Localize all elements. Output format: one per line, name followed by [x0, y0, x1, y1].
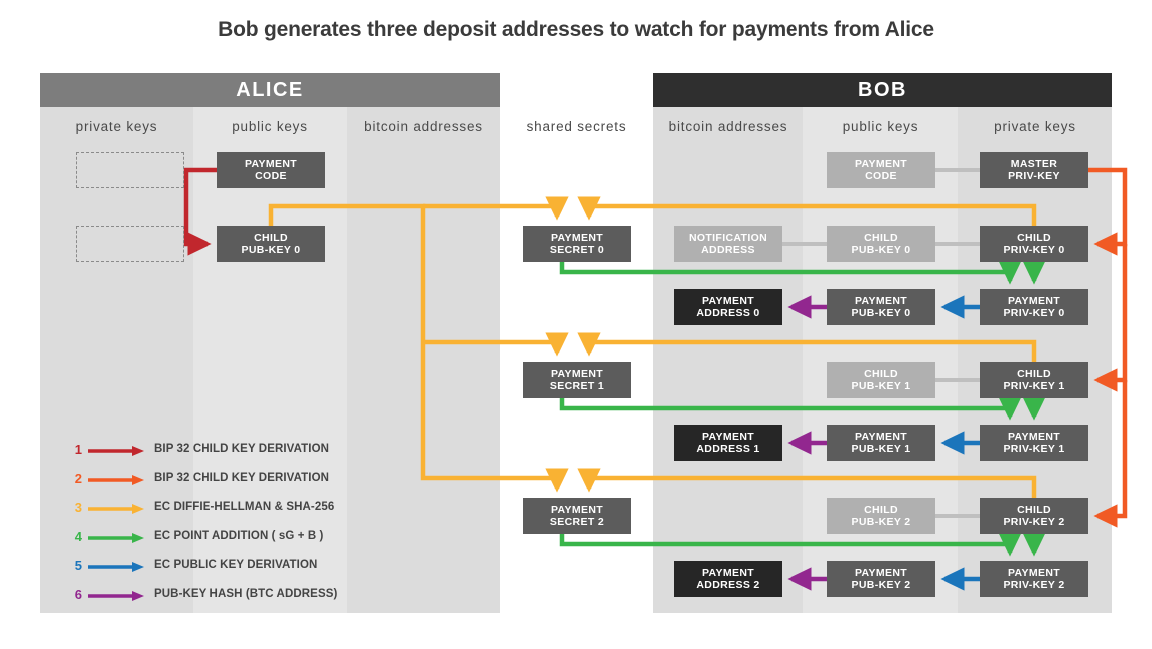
node-line-1: MASTER — [1011, 158, 1057, 171]
node-line-1: PAYMENT — [855, 295, 907, 308]
bob-payment-priv-key-1[interactable]: PAYMENT PRIV-KEY 1 — [980, 425, 1088, 461]
bob-child-priv-key-0[interactable]: CHILD PRIV-KEY 0 — [980, 226, 1088, 262]
bob-payment-priv-key-2[interactable]: PAYMENT PRIV-KEY 2 — [980, 561, 1088, 597]
caption-bob-private-keys: private keys — [958, 119, 1112, 135]
node-line-1: NOTIFICATION — [689, 232, 767, 245]
node-line-1: PAYMENT — [551, 232, 603, 245]
legend-row-4: 4 EC POINT ADDITION ( sG + B ) — [68, 529, 368, 547]
node-line-1: PAYMENT — [1008, 295, 1060, 308]
node-line-2: PRIV-KEY — [1008, 170, 1060, 183]
node-line-2: ADDRESS 1 — [696, 443, 759, 456]
bob-child-pub-key-0[interactable]: CHILD PUB-KEY 0 — [827, 226, 935, 262]
node-line-1: CHILD — [864, 504, 898, 517]
bob-payment-pub-key-1[interactable]: PAYMENT PUB-KEY 1 — [827, 425, 935, 461]
node-line-2: PRIV-KEY 2 — [1003, 579, 1064, 592]
caption-alice-bitcoin-addresses: bitcoin addresses — [347, 119, 500, 135]
caption-bob-public-keys: public keys — [803, 119, 958, 135]
legend-label: BIP 32 CHILD KEY DERIVATION — [154, 472, 329, 484]
node-line-1: CHILD — [254, 232, 288, 245]
alice-child-pub-key-0[interactable]: CHILD PUB-KEY 0 — [217, 226, 325, 262]
bob-notification-address[interactable]: NOTIFICATION ADDRESS — [674, 226, 782, 262]
bob-payment-address-2[interactable]: PAYMENT ADDRESS 2 — [674, 561, 782, 597]
legend-number: 6 — [68, 587, 82, 602]
bob-payment-pub-key-0[interactable]: PAYMENT PUB-KEY 0 — [827, 289, 935, 325]
node-line-2: PRIV-KEY 1 — [1003, 443, 1064, 456]
legend-number: 2 — [68, 471, 82, 486]
legend-arrow-icon — [88, 502, 146, 520]
caption-shared-secrets: shared secrets — [500, 119, 653, 135]
legend-row-2: 2 BIP 32 CHILD KEY DERIVATION — [68, 471, 368, 489]
node-line-2: PUB-KEY 0 — [242, 244, 301, 257]
node-line-2: SECRET 0 — [550, 244, 604, 257]
node-line-1: CHILD — [1017, 368, 1051, 381]
node-line-1: CHILD — [864, 232, 898, 245]
node-line-2: PRIV-KEY 2 — [1003, 516, 1064, 529]
payment-secret-2[interactable]: PAYMENT SECRET 2 — [523, 498, 631, 534]
legend-row-5: 5 EC PUBLIC KEY DERIVATION — [68, 558, 368, 576]
legend-arrow-icon — [88, 589, 146, 607]
node-line-1: PAYMENT — [702, 295, 754, 308]
node-line-2: SECRET 2 — [550, 516, 604, 529]
node-line-1: CHILD — [1017, 232, 1051, 245]
bob-child-priv-key-1[interactable]: CHILD PRIV-KEY 1 — [980, 362, 1088, 398]
node-line-2: CODE — [255, 170, 287, 183]
node-line-2: PUB-KEY 2 — [852, 516, 911, 529]
node-line-2: ADDRESS — [701, 244, 755, 257]
bob-master-priv-key[interactable]: MASTER PRIV-KEY — [980, 152, 1088, 188]
party-header-bob: BOB — [653, 73, 1112, 107]
node-line-1: PAYMENT — [1008, 431, 1060, 444]
bob-payment-address-1[interactable]: PAYMENT ADDRESS 1 — [674, 425, 782, 461]
bob-payment-address-0[interactable]: PAYMENT ADDRESS 0 — [674, 289, 782, 325]
node-line-1: PAYMENT — [1008, 567, 1060, 580]
node-line-2: PUB-KEY 1 — [852, 443, 911, 456]
node-line-2: PRIV-KEY 0 — [1003, 307, 1064, 320]
bob-child-priv-key-2[interactable]: CHILD PRIV-KEY 2 — [980, 498, 1088, 534]
legend-number: 3 — [68, 500, 82, 515]
node-line-2: PRIV-KEY 1 — [1003, 380, 1064, 393]
band-bob-bitcoin-addresses — [653, 107, 803, 613]
node-line-1: PAYMENT — [855, 431, 907, 444]
node-line-1: PAYMENT — [551, 368, 603, 381]
legend-number: 4 — [68, 529, 82, 544]
bob-child-pub-key-2[interactable]: CHILD PUB-KEY 2 — [827, 498, 935, 534]
node-line-1: PAYMENT — [855, 158, 907, 171]
legend-label: EC DIFFIE-HELLMAN & SHA-256 — [154, 501, 334, 513]
legend-arrow-icon — [88, 531, 146, 549]
legend-label: BIP 32 CHILD KEY DERIVATION — [154, 443, 329, 455]
legend-row-1: 1 BIP 32 CHILD KEY DERIVATION — [68, 442, 368, 460]
legend-arrow-icon — [88, 444, 146, 462]
node-line-1: PAYMENT — [702, 567, 754, 580]
alice-private-key-placeholder-0 — [76, 152, 184, 188]
page-title: Bob generates three deposit addresses to… — [0, 18, 1152, 42]
caption-alice-public-keys: public keys — [193, 119, 347, 135]
legend-label: EC PUBLIC KEY DERIVATION — [154, 559, 317, 571]
party-header-alice: ALICE — [40, 73, 500, 107]
bob-child-pub-key-1[interactable]: CHILD PUB-KEY 1 — [827, 362, 935, 398]
alice-private-key-placeholder-1 — [76, 226, 184, 262]
legend-arrow-icon — [88, 560, 146, 578]
diagram-canvas: Bob generates three deposit addresses to… — [0, 0, 1152, 649]
node-line-1: PAYMENT — [245, 158, 297, 171]
legend-arrow-icon — [88, 473, 146, 491]
legend-label: EC POINT ADDITION ( sG + B ) — [154, 530, 323, 542]
node-line-2: PUB-KEY 2 — [852, 579, 911, 592]
legend-number: 5 — [68, 558, 82, 573]
node-line-2: ADDRESS 0 — [696, 307, 759, 320]
node-line-1: PAYMENT — [855, 567, 907, 580]
payment-secret-0[interactable]: PAYMENT SECRET 0 — [523, 226, 631, 262]
node-line-2: PUB-KEY 1 — [852, 380, 911, 393]
caption-alice-private-keys: private keys — [40, 119, 193, 135]
caption-bob-bitcoin-addresses: bitcoin addresses — [653, 119, 803, 135]
node-line-1: PAYMENT — [551, 504, 603, 517]
band-alice-bitcoin-addresses — [347, 107, 500, 613]
bob-payment-pub-key-2[interactable]: PAYMENT PUB-KEY 2 — [827, 561, 935, 597]
legend-row-6: 6 PUB-KEY HASH (BTC ADDRESS) — [68, 587, 368, 605]
bob-payment-code[interactable]: PAYMENT CODE — [827, 152, 935, 188]
node-line-2: PUB-KEY 0 — [852, 307, 911, 320]
legend-label: PUB-KEY HASH (BTC ADDRESS) — [154, 588, 337, 600]
node-line-2: CODE — [865, 170, 897, 183]
alice-payment-code[interactable]: PAYMENT CODE — [217, 152, 325, 188]
node-line-1: CHILD — [1017, 504, 1051, 517]
node-line-2: PUB-KEY 0 — [852, 244, 911, 257]
node-line-1: PAYMENT — [702, 431, 754, 444]
payment-secret-1[interactable]: PAYMENT SECRET 1 — [523, 362, 631, 398]
bob-payment-priv-key-0[interactable]: PAYMENT PRIV-KEY 0 — [980, 289, 1088, 325]
node-line-2: ADDRESS 2 — [696, 579, 759, 592]
node-line-2: SECRET 1 — [550, 380, 604, 393]
legend-number: 1 — [68, 442, 82, 457]
node-line-1: CHILD — [864, 368, 898, 381]
node-line-2: PRIV-KEY 0 — [1003, 244, 1064, 257]
legend-row-3: 3 EC DIFFIE-HELLMAN & SHA-256 — [68, 500, 368, 518]
